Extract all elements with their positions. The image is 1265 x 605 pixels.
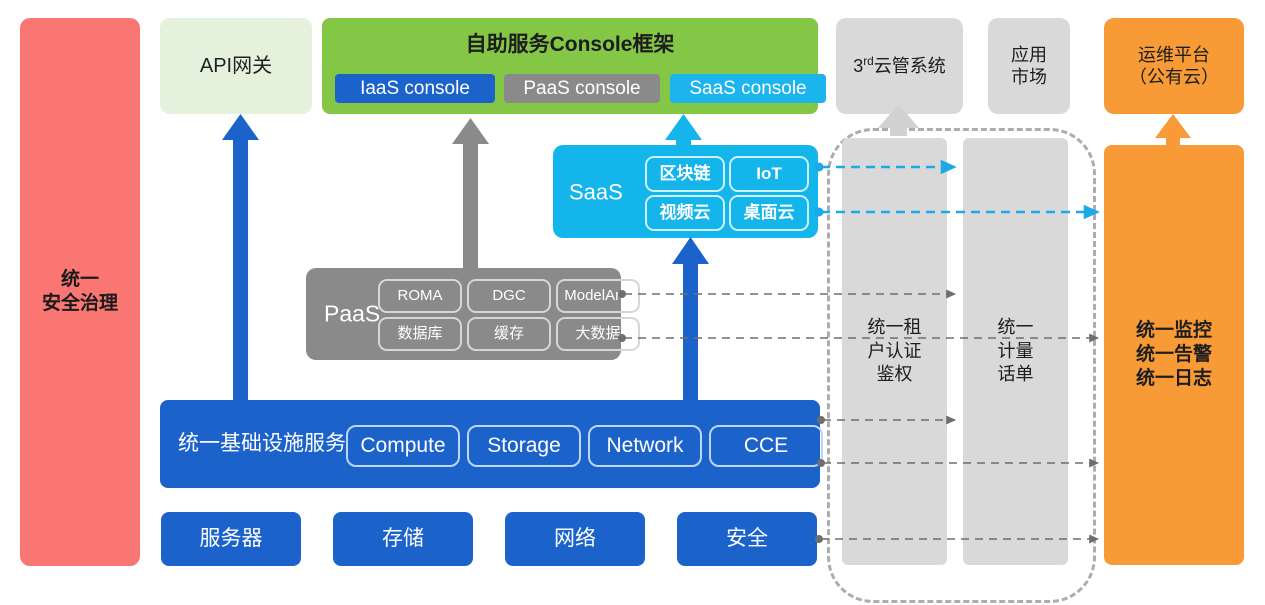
- infra-item-compute-label: Compute: [360, 433, 445, 459]
- paas-item-modelarts[interactable]: ModelArts: [556, 279, 640, 313]
- security-governance-column[interactable]: 统一 安全治理: [20, 18, 140, 566]
- metering-line-2: 计量: [998, 340, 1034, 363]
- saas-item-blockchain[interactable]: 区块链: [645, 156, 725, 192]
- paas-item-bigdata-label: 大数据: [575, 325, 620, 344]
- chip-paas-console[interactable]: PaaS console: [504, 74, 660, 103]
- paas-item-database-label: 数据库: [397, 325, 442, 344]
- ops-column-line-3: 统一日志: [1136, 367, 1212, 391]
- hardware-box-server-label: 服务器: [200, 526, 263, 552]
- self-service-console-frame[interactable]: 自助服务Console框架 IaaS console PaaS console …: [322, 18, 818, 114]
- hardware-box-security-label: 安全: [726, 526, 768, 552]
- saas-label: SaaS: [569, 178, 623, 206]
- infra-item-network-label: Network: [606, 433, 683, 459]
- ops-platform-line-1: 运维平台: [1129, 44, 1219, 67]
- third-party-suffix: 云管系统: [874, 56, 946, 76]
- security-line-2: 安全治理: [42, 292, 118, 316]
- unified-infrastructure-bar[interactable]: 统一基础设施服务 Compute Storage Network CCE: [160, 400, 820, 488]
- unified-metering-billing-text: 统一 计量 话单: [998, 316, 1034, 386]
- arrow-paas-to-console: [452, 118, 489, 268]
- app-market-line-1: 应用: [1011, 44, 1047, 67]
- ops-column-line-2: 统一告警: [1136, 343, 1212, 367]
- arrow-infra-to-saas: [672, 237, 709, 400]
- paas-item-roma-label: ROMA: [398, 287, 443, 306]
- saas-block[interactable]: SaaS 区块链 IoT 视频云 桌面云: [553, 145, 818, 238]
- paas-item-cache[interactable]: 缓存: [467, 317, 551, 351]
- saas-item-iot[interactable]: IoT: [729, 156, 809, 192]
- infra-item-storage-label: Storage: [487, 433, 561, 459]
- saas-item-iot-label: IoT: [756, 163, 782, 184]
- chip-saas-console-label: SaaS console: [689, 77, 806, 101]
- third-party-superscript: rd: [863, 54, 874, 68]
- saas-item-desktop-cloud[interactable]: 桌面云: [729, 195, 809, 231]
- ops-platform-line-2: （公有云）: [1129, 66, 1219, 89]
- infra-item-storage[interactable]: Storage: [467, 425, 581, 467]
- infra-item-network[interactable]: Network: [588, 425, 702, 467]
- hardware-box-storage[interactable]: 存储: [333, 512, 473, 566]
- app-market-line-2: 市场: [1011, 66, 1047, 89]
- metering-line-3: 话单: [998, 363, 1034, 386]
- architecture-diagram: 统一 安全治理 API网关 自助服务Console框架 IaaS console…: [0, 0, 1265, 605]
- third-party-prefix: 3: [853, 56, 863, 76]
- console-frame-title: 自助服务Console框架: [322, 32, 818, 58]
- tenant-auth-line-1: 统一租: [868, 316, 922, 339]
- hardware-box-storage-label: 存储: [382, 526, 424, 552]
- api-gateway-label: API网关: [200, 54, 272, 79]
- metering-line-1: 统一: [998, 316, 1034, 339]
- ops-platform-public-cloud-box[interactable]: 运维平台 （公有云）: [1104, 18, 1244, 114]
- unified-infrastructure-label: 统一基础设施服务: [178, 431, 346, 457]
- unified-tenant-auth-text: 统一租 户认证 鉴权: [868, 316, 922, 386]
- security-line-1: 统一: [42, 268, 118, 292]
- infra-item-cce-label: CCE: [744, 433, 788, 459]
- third-party-label: 3rd云管系统: [853, 54, 946, 78]
- infra-item-compute[interactable]: Compute: [346, 425, 460, 467]
- tenant-auth-line-2: 户认证: [868, 340, 922, 363]
- chip-iaas-console-label: IaaS console: [360, 77, 470, 101]
- paas-item-dgc[interactable]: DGC: [467, 279, 551, 313]
- hardware-box-security[interactable]: 安全: [677, 512, 817, 566]
- unified-tenant-auth-column[interactable]: 统一租 户认证 鉴权: [842, 138, 947, 565]
- saas-item-video-cloud-label: 视频云: [660, 202, 711, 223]
- arrow-infra-to-api-gateway: [222, 114, 259, 400]
- chip-saas-console[interactable]: SaaS console: [670, 74, 826, 103]
- paas-item-database[interactable]: 数据库: [378, 317, 462, 351]
- ops-column-line-1: 统一监控: [1136, 319, 1212, 343]
- paas-item-dgc-label: DGC: [492, 287, 525, 306]
- app-market-box[interactable]: 应用 市场: [988, 18, 1070, 114]
- unified-metering-billing-column[interactable]: 统一 计量 话单: [963, 138, 1068, 565]
- chip-paas-console-label: PaaS console: [523, 77, 640, 101]
- paas-item-bigdata[interactable]: 大数据: [556, 317, 640, 351]
- paas-label: PaaS: [324, 300, 380, 329]
- arrow-saas-to-console: [665, 114, 702, 146]
- saas-item-desktop-cloud-label: 桌面云: [744, 202, 795, 223]
- paas-item-modelarts-label: ModelArts: [564, 287, 632, 306]
- saas-item-video-cloud[interactable]: 视频云: [645, 195, 725, 231]
- hardware-box-network-label: 网络: [554, 526, 596, 552]
- paas-block[interactable]: PaaS ROMA DGC ModelArts 数据库 缓存 大数据: [306, 268, 621, 360]
- chip-iaas-console[interactable]: IaaS console: [335, 74, 495, 103]
- third-party-cloud-mgmt-box[interactable]: 3rd云管系统: [836, 18, 963, 114]
- infra-item-cce[interactable]: CCE: [709, 425, 823, 467]
- saas-item-blockchain-label: 区块链: [660, 163, 711, 184]
- api-gateway-box[interactable]: API网关: [160, 18, 312, 114]
- hardware-box-network[interactable]: 网络: [505, 512, 645, 566]
- paas-item-roma[interactable]: ROMA: [378, 279, 462, 313]
- tenant-auth-line-3: 鉴权: [868, 363, 922, 386]
- paas-item-cache-label: 缓存: [494, 325, 524, 344]
- unified-ops-column[interactable]: 统一监控 统一告警 统一日志: [1104, 145, 1244, 565]
- arrow-ops-column-to-ops-platform: [1155, 114, 1191, 146]
- hardware-box-server[interactable]: 服务器: [161, 512, 301, 566]
